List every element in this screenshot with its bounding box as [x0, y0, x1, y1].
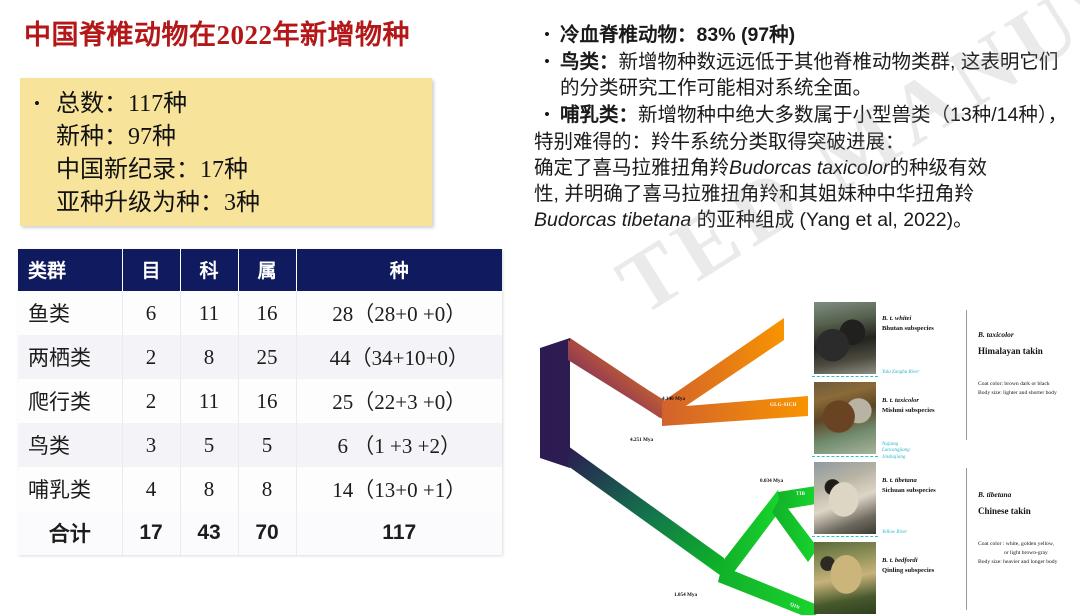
col-header-family: 科	[180, 249, 238, 291]
cell-group: 鸟类	[18, 423, 122, 467]
table-row: 鱼类 6 11 16 28（28+0 +0）	[18, 291, 502, 335]
cell-group: 哺乳类	[18, 467, 122, 511]
paragraph-seg-c: 的亚种组成 (Yang et al, 2022)。	[691, 209, 972, 231]
table-total-row: 合计 17 43 70 117	[18, 511, 502, 555]
subspecies-tibetana: B. t. tibetana Sichuan subspecies	[882, 476, 936, 496]
river-lancangjiang: Lancangjiang	[882, 448, 910, 453]
note-item-1-text: 新增物种数远远低于其他脊椎动物类群, 这表明它们的分类研究工作可能相对系统全面。	[560, 51, 1058, 99]
table-header-row: 类群 目 科 属 种	[18, 249, 502, 291]
bullet-glyph: •	[534, 102, 560, 128]
species-block-tibetana: B. tibetana Chinese takin	[978, 490, 1031, 516]
summary-line-2-text: 中国新纪录：17种	[56, 157, 248, 183]
cell-family: 11	[180, 291, 238, 335]
river-divider-1	[812, 376, 878, 377]
cell-species: 14（13+0 +1）	[296, 467, 502, 511]
col-header-species: 种	[296, 249, 502, 291]
cell-total-label: 合计	[18, 511, 122, 555]
col-header-genus: 属	[238, 249, 296, 291]
cell-group: 两栖类	[18, 335, 122, 379]
subspecies-whitei: B. t. whitei Bhutan subspecies	[882, 314, 934, 334]
species-block-taxicolor: B. taxicolor Himalayan takin	[978, 330, 1043, 356]
bullet-glyph: •	[534, 49, 560, 75]
subspecies-whitei-sci: B. t. whitei	[882, 315, 911, 322]
cell-order: 2	[122, 379, 180, 423]
node-label-1054: 1.054 Mya	[674, 592, 697, 598]
note-item-2: • 哺乳类：新增物种中绝大多数属于小型兽类（13种/14种），	[534, 102, 1072, 128]
cell-group: 鱼类	[18, 291, 122, 335]
note-item-2-label: 哺乳类：	[560, 104, 638, 126]
table-row: 两栖类 2 8 25 44（34+10+0）	[18, 335, 502, 379]
subspecies-tibetana-sci: B. t. tibetana	[882, 477, 917, 484]
note-item-0-label: 冷血脊椎动物：	[560, 24, 697, 46]
node-label-4251: 4.251 Mya	[630, 437, 653, 443]
tip-label-glg-sich: GLG-SICH	[770, 403, 797, 408]
summary-box: •总数：117种 新种：97种 中国新纪录：17种 亚种升级为种：3种	[20, 78, 432, 226]
subspecies-bedfordi: B. t. bedfordi Qinling subspecies	[882, 556, 934, 576]
cell-genus: 8	[238, 467, 296, 511]
tip-label-tib: TIB	[796, 492, 805, 497]
river-divider-2	[812, 456, 878, 457]
species-tibetana-body: Body size: heavier and longer body	[978, 559, 1057, 565]
cell-genus: 5	[238, 423, 296, 467]
river-nujiang: Nujiang	[882, 442, 898, 447]
species-taxicolor-common: Himalayan takin	[978, 346, 1043, 356]
scientific-name-taxicolor: Budorcas taxicolor	[729, 157, 889, 179]
note-item-1-label: 鸟类：	[560, 51, 619, 73]
subspecies-bedfordi-common: Qinling subspecies	[882, 567, 934, 574]
table-row: 鸟类 3 5 5 6 （1 +3 +2）	[18, 423, 502, 467]
river-jinshajiang: Jinshajiang	[882, 455, 905, 460]
cell-total-genus: 70	[238, 511, 296, 555]
col-header-group: 类群	[18, 249, 122, 291]
takin-photo-qinling	[814, 542, 876, 614]
note-item-0-text: 83% (97种)	[697, 24, 796, 46]
species-taxicolor-traits: Coat color: brown dark or black Body siz…	[978, 380, 1057, 398]
table-body: 鱼类 6 11 16 28（28+0 +0） 两栖类 2 8 25 44（34+…	[18, 291, 502, 555]
subspecies-tibetana-common: Sichuan subspecies	[882, 487, 936, 494]
takin-photo-mishmi	[814, 382, 876, 454]
note-item-1-body: 鸟类：新增物种数远远低于其他脊椎动物类群, 这表明它们的分类研究工作可能相对系统…	[560, 49, 1072, 101]
subspecies-taxicolor-sci: B. t. taxicolor	[882, 397, 919, 404]
river-label-nujiang: NujiangLancangjiangJinshajiang	[882, 442, 910, 461]
subspecies-bedfordi-sci: B. t. bedfordi	[882, 557, 918, 564]
cell-species: 28（28+0 +0）	[296, 291, 502, 335]
cell-genus: 16	[238, 291, 296, 335]
page-title: 中国脊椎动物在2022年新增物种	[24, 13, 410, 52]
species-table: 类群 目 科 属 种 鱼类 6 11 16 28（28+0 +0） 两栖类 2 …	[18, 249, 502, 555]
summary-line-2: 中国新纪录：17种	[34, 154, 426, 187]
species-tibetana-sci: B. tibetana	[978, 490, 1031, 499]
paragraph-line-3: Budorcas tibetana 的亚种组成 (Yang et al, 202…	[534, 207, 1072, 233]
cell-order: 3	[122, 423, 180, 467]
river-label-yellow: Yellow River	[882, 530, 907, 536]
river-label-yaluzangbu: Yalu Zangbu River	[882, 370, 919, 376]
notes-panel: • 冷血脊椎动物：83% (97种) • 鸟类：新增物种数远远低于其他脊椎动物类…	[534, 22, 1072, 233]
cell-family: 11	[180, 379, 238, 423]
takin-photo-sichuan	[814, 462, 876, 534]
cell-total-family: 43	[180, 511, 238, 555]
note-item-0: • 冷血脊椎动物：83% (97种)	[534, 22, 1072, 48]
summary-line-3-text: 亚种升级为种：3种	[56, 190, 260, 216]
subspecies-taxicolor-common: Mishmi subspecies	[882, 407, 935, 414]
paragraph-line-2: 性, 并明确了喜马拉雅扭角羚和其姐妹种中华扭角羚	[534, 181, 1072, 207]
paragraph-line-0: 特别难得的：羚牛系统分类取得突破进展：	[534, 129, 1072, 155]
photo-pixels	[814, 302, 876, 374]
photo-pixels	[814, 542, 876, 614]
cell-family: 8	[180, 335, 238, 379]
note-item-2-body: 哺乳类：新增物种中绝大多数属于小型兽类（13种/14种），	[560, 102, 1072, 128]
cell-species: 6 （1 +3 +2）	[296, 423, 502, 467]
summary-line-1: 新种：97种	[34, 121, 426, 154]
species-taxicolor-sci: B. taxicolor	[978, 330, 1043, 339]
cell-family: 8	[180, 467, 238, 511]
phylogeny-figure: 4.251 Mya 4.140 Mya 1.054 Mya 0.034 Mya …	[534, 300, 1080, 615]
subspecies-taxicolor: B. t. taxicolor Mishmi subspecies	[882, 396, 935, 416]
table-row: 哺乳类 4 8 8 14（13+0 +1）	[18, 467, 502, 511]
paragraph-line-1: 确定了喜马拉雅扭角羚Budorcas taxicolor的种级有效	[534, 155, 1072, 181]
node-label-4140: 4.140 Mya	[662, 396, 685, 402]
cell-total-species: 117	[296, 511, 502, 555]
river-divider-3	[812, 536, 878, 537]
cell-genus: 25	[238, 335, 296, 379]
species-taxicolor-body: Body size: lighter and shorter body	[978, 390, 1057, 396]
table-header: 类群 目 科 属 种	[18, 249, 502, 291]
summary-line-0-text: 总数：117种	[56, 91, 187, 117]
note-item-2-text: 新增物种中绝大多数属于小型兽类（13种/14种），	[638, 104, 1067, 126]
cell-order: 2	[122, 335, 180, 379]
note-item-0-body: 冷血脊椎动物：83% (97种)	[560, 22, 1072, 48]
species-tibetana-common: Chinese takin	[978, 506, 1031, 516]
photo-pixels	[814, 382, 876, 454]
table-row: 爬行类 2 11 16 25（22+3 +0）	[18, 379, 502, 423]
node-label-0034: 0.034 Mya	[760, 478, 783, 484]
paragraph-seg-b: 的种级有效	[889, 157, 987, 179]
summary-box-content: •总数：117种 新种：97种 中国新纪录：17种 亚种升级为种：3种	[34, 87, 426, 220]
cell-species: 25（22+3 +0）	[296, 379, 502, 423]
col-header-order: 目	[122, 249, 180, 291]
subspecies-whitei-common: Bhutan subspecies	[882, 325, 934, 332]
cell-genus: 16	[238, 379, 296, 423]
photo-pixels	[814, 462, 876, 534]
note-item-1: • 鸟类：新增物种数远远低于其他脊椎动物类群, 这表明它们的分类研究工作可能相对…	[534, 49, 1072, 101]
cell-total-order: 17	[122, 511, 180, 555]
takin-photo-bhutan	[814, 302, 876, 374]
species-taxicolor-coat: Coat color: brown dark or black	[978, 381, 1050, 387]
species-tibetana-coat: Coat color : white, golden yellow,	[978, 541, 1054, 547]
summary-line-0: •总数：117种	[34, 87, 426, 121]
species-tibetana-traits: Coat color : white, golden yellow, or li…	[978, 540, 1057, 567]
cell-order: 6	[122, 291, 180, 335]
bullet-glyph: •	[34, 87, 56, 120]
cell-order: 4	[122, 467, 180, 511]
paragraph-seg-a: 确定了喜马拉雅扭角羚	[534, 157, 729, 179]
species-tibetana-coat2: or light brown-gray	[978, 549, 1057, 558]
cell-species: 44（34+10+0）	[296, 335, 502, 379]
cell-group: 爬行类	[18, 379, 122, 423]
species-divider-lower	[966, 468, 967, 610]
scientific-name-tibetana: Budorcas tibetana	[534, 209, 691, 231]
summary-line-3: 亚种升级为种：3种	[34, 187, 426, 220]
summary-line-1-text: 新种：97种	[56, 124, 176, 150]
species-divider-upper	[966, 310, 967, 440]
cell-family: 5	[180, 423, 238, 467]
bullet-glyph: •	[534, 22, 560, 48]
slide-root: 中国脊椎动物在2022年新增物种 •总数：117种 新种：97种 中国新纪录：1…	[0, 0, 1080, 615]
